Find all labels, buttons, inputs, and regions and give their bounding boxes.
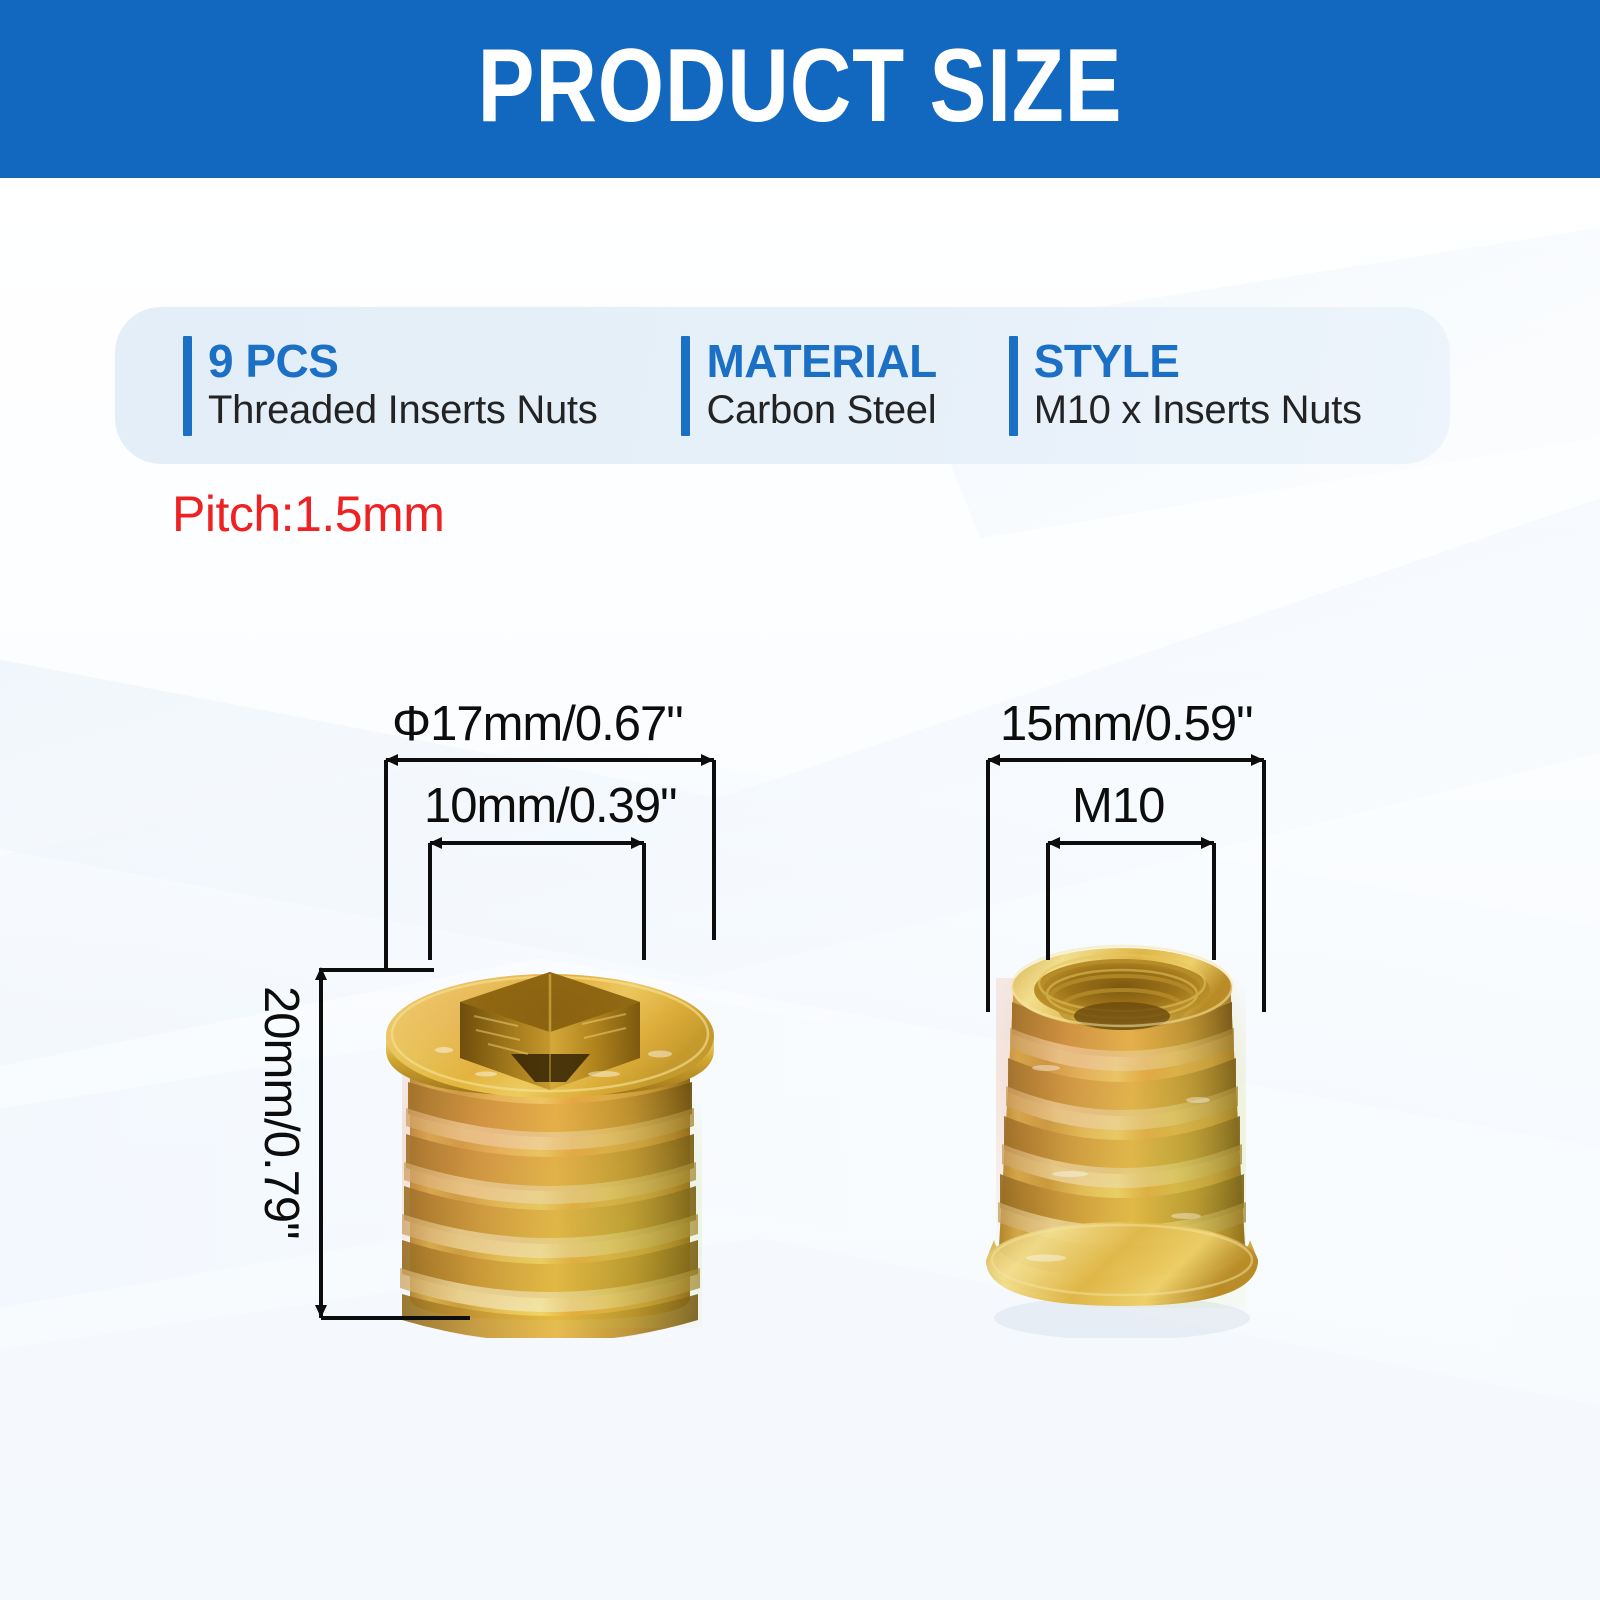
product-photo-area — [0, 178, 1600, 1600]
threaded-insert-nut-bottom-view — [950, 868, 1290, 1338]
threaded-insert-nut-top-view — [368, 868, 728, 1338]
page-title: PRODUCT SIZE — [144, 0, 1456, 178]
header-banner: PRODUCT SIZE — [0, 0, 1600, 178]
product-size-infographic: PRODUCT SIZE 9 PCS Threaded Inserts Nuts… — [0, 0, 1600, 1600]
